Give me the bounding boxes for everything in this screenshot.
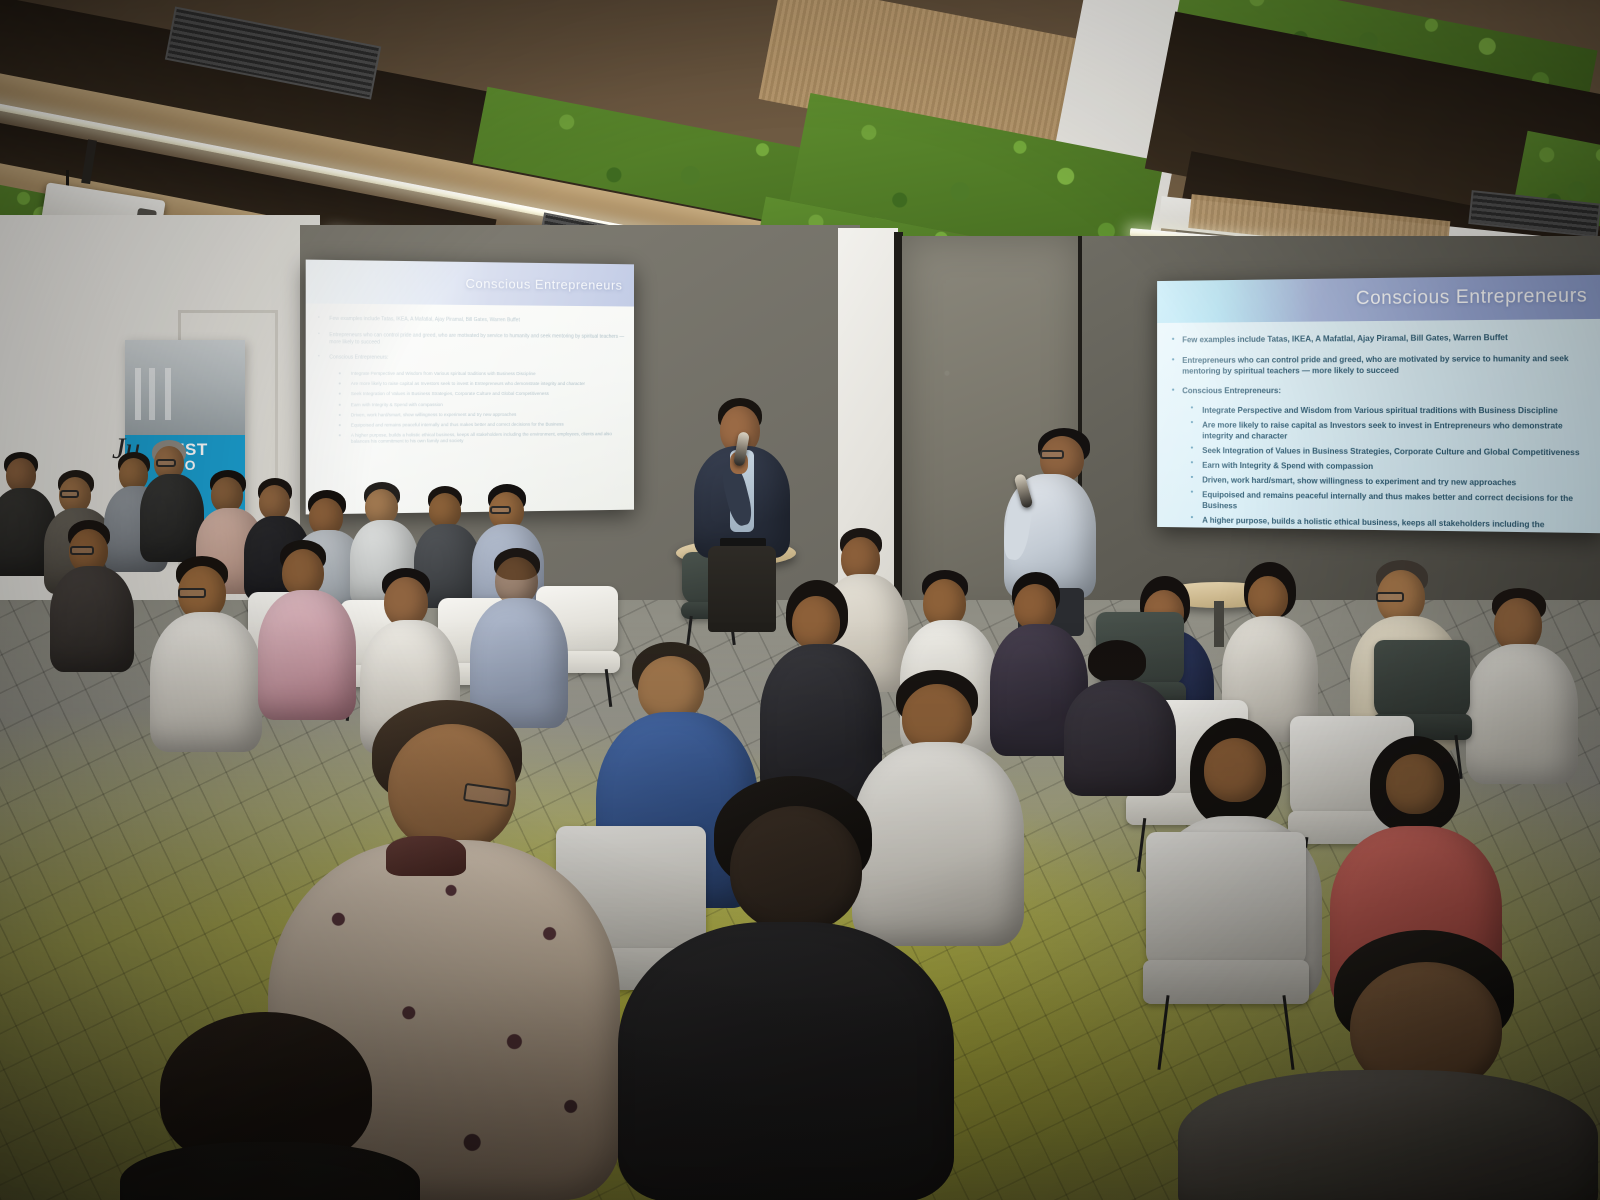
foreground-attendee-bottom-right	[1178, 930, 1598, 1200]
audience-member	[258, 540, 354, 716]
conference-room-photo: JUST CO make WORK Ju Conscious Entrepren…	[0, 0, 1600, 1200]
left-slide-body: Few examples include Tatas, IKEA, A Mafa…	[316, 316, 626, 450]
bottom-right-torso	[1178, 1070, 1598, 1200]
audience-torso	[50, 566, 134, 672]
questioner-glasses	[1040, 450, 1064, 459]
right-slide-bullet-2: Conscious Entrepreneurs:	[1170, 384, 1592, 396]
bottom-left-torso	[120, 1142, 420, 1200]
right-slide: Conscious Entrepreneurs Few examples inc…	[1157, 275, 1600, 533]
right-slide-title: Conscious Entrepreneurs	[1356, 285, 1600, 310]
left-slide-bullet-2: Conscious Entrepreneurs:	[316, 355, 626, 363]
left-slide-bullet-3: Integrate Perspective and Wisdom from Va…	[316, 371, 626, 378]
right-slide-title-bar: Conscious Entrepreneurs	[1157, 275, 1600, 323]
left-slide-bullet-8: Equipoised and remains peaceful internal…	[316, 421, 626, 429]
left-slide-bullet-4: Are more likely to raise capital as Inve…	[316, 381, 626, 387]
right-slide-bullet-7: Driven, work hard/smart, show willingnes…	[1170, 474, 1592, 489]
right-slide-bullet-4: Are more likely to raise capital as Inve…	[1170, 419, 1592, 442]
left-slide-bullet-5: Seek Integration of Values in Business S…	[316, 391, 626, 397]
kurta-attendee-collar	[386, 836, 466, 876]
left-slide-bullet-6: Earn with Integrity & Spend with compass…	[316, 401, 626, 408]
audience-torso	[150, 612, 262, 752]
audience-glasses	[178, 588, 206, 598]
audience-torso	[1064, 680, 1176, 796]
audience-glasses	[60, 490, 79, 498]
right-slide-body: Few examples include Tatas, IKEA, A Mafa…	[1170, 332, 1592, 533]
audience-member	[50, 520, 132, 670]
audience-member	[140, 440, 202, 560]
dark-suit-head	[730, 806, 862, 932]
audience-head	[1248, 576, 1288, 620]
audience-head	[1204, 738, 1266, 802]
audience-member	[1064, 640, 1174, 790]
audience-torso	[140, 474, 204, 562]
right-slide-bullet-3: Integrate Perspective and Wisdom from Va…	[1170, 405, 1592, 416]
right-slide-bullet-8: Equipoised and remains peaceful internal…	[1170, 489, 1592, 516]
right-slide-bullet-0: Few examples include Tatas, IKEA, A Mafa…	[1170, 332, 1592, 346]
ceiling	[0, 0, 1600, 250]
audience-head	[6, 458, 36, 492]
audience-member	[150, 556, 260, 746]
left-projection-screen: Conscious Entrepreneurs Few examples inc…	[306, 260, 634, 515]
left-slide-title: Conscious Entrepreneurs	[466, 276, 634, 293]
left-slide-bullet-9: A higher purpose, builds a holistic ethi…	[316, 431, 626, 445]
right-projection-screen: Conscious Entrepreneurs Few examples inc…	[1157, 275, 1600, 533]
left-slide-bullet-0: Few examples include Tatas, IKEA, A Mafa…	[316, 316, 626, 325]
audience-head	[429, 493, 461, 528]
foreground-attendee-bottom-left	[120, 1012, 420, 1200]
dark-suit-torso	[618, 922, 954, 1200]
audience-glasses	[156, 459, 176, 467]
audience-member	[470, 548, 566, 724]
audience-head	[259, 485, 290, 520]
audience-glasses	[70, 546, 94, 555]
audience-head	[1386, 754, 1444, 814]
audience-glasses	[490, 506, 511, 514]
left-slide-bullet-1: Entrepreneurs who can control pride and …	[316, 332, 626, 347]
audience-hair	[1088, 640, 1146, 682]
left-slide-title-bar: Conscious Entrepreneurs	[306, 260, 634, 306]
right-slide-bullet-5: Seek Integration of Values in Business S…	[1170, 445, 1592, 458]
banner-photo-area	[125, 340, 245, 435]
right-slide-bullet-1: Entrepreneurs who can control pride and …	[1170, 352, 1592, 376]
foreground-attendee-dark-suit	[618, 776, 958, 1200]
audience-head	[792, 596, 840, 650]
left-slide: Conscious Entrepreneurs Few examples inc…	[306, 260, 634, 515]
left-slide-bullet-7: Driven, work hard/smart, show willingnes…	[316, 411, 626, 418]
right-slide-bullet-6: Earn with Integrity & Spend with compass…	[1170, 460, 1592, 474]
audience-glasses	[1376, 592, 1404, 602]
chair-back	[1374, 640, 1470, 719]
